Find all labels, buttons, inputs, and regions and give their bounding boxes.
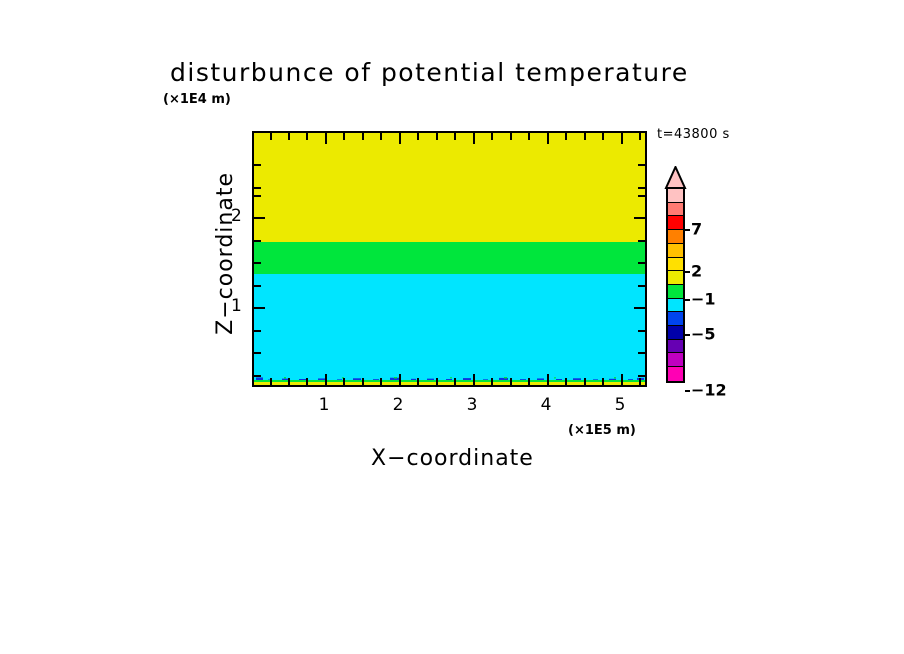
tick-x-top-minor [565, 133, 567, 140]
colorbar-band-7 [668, 285, 683, 299]
tick-x-top-minor [417, 133, 419, 140]
colorbar-tick-mark [685, 271, 690, 273]
colorbar[interactable] [666, 187, 685, 383]
tick-x-top-minor [362, 133, 364, 140]
colorbar-band-9 [668, 258, 683, 272]
x-axis-units: (×1E5 m) [568, 423, 636, 438]
tick-y-right-minor [638, 375, 645, 377]
tick-x-top-major [473, 133, 475, 144]
tick-x-top-minor [639, 133, 641, 140]
tick-y-right-major [634, 307, 645, 309]
tick-x-top-minor [306, 133, 308, 140]
tick-y-right-minor [638, 195, 645, 197]
x-axis-title: X−coordinate [371, 446, 534, 471]
tick-x-bottom-minor [565, 378, 567, 385]
tick-x-top-minor [602, 133, 604, 140]
tick-x-bottom-major [473, 374, 475, 385]
colorbar-band-12 [668, 216, 683, 230]
tick-y-right-minor [638, 240, 645, 242]
colorbar-band-11 [668, 230, 683, 244]
tick-x-bottom-minor [343, 378, 345, 385]
tick-x-top-minor [491, 133, 493, 140]
tick-x-bottom-major [325, 374, 327, 385]
tick-y-left-major [254, 217, 265, 219]
tick-x-top-minor [270, 133, 272, 140]
xtick-label-1: 1 [319, 395, 330, 415]
tick-y-left-minor [254, 195, 261, 197]
layer-cyan-lower [254, 274, 645, 375]
colorbar-band-1 [668, 367, 683, 381]
xtick-label-5: 5 [615, 395, 626, 415]
tick-x-top-major [621, 133, 623, 144]
tick-y-left-minor [254, 240, 261, 242]
colorbar-tick-mark [685, 299, 690, 301]
colorbar-label-neg12: −12 [691, 381, 727, 400]
tick-x-bottom-minor [270, 378, 272, 385]
colorbar-band-3 [668, 340, 683, 354]
tick-x-bottom-minor [380, 378, 382, 385]
colorbar-band-5 [668, 312, 683, 326]
tick-x-bottom-minor [584, 378, 586, 385]
colorbar-band-4 [668, 326, 683, 340]
tick-y-left-minor [254, 375, 261, 377]
colorbar-band-6 [668, 299, 683, 313]
tick-y-left-major [254, 307, 265, 309]
colorbar-tick-mark [685, 334, 690, 336]
colorbar-label-neg5: −5 [691, 325, 716, 344]
y-axis-title: Z−coordinate [213, 172, 238, 335]
tick-x-top-major [547, 133, 549, 144]
tick-x-top-minor [288, 133, 290, 140]
tick-x-bottom-minor [528, 378, 530, 385]
tick-x-top-minor [510, 133, 512, 140]
tick-x-top-minor [584, 133, 586, 140]
colorbar-label-neg1: −1 [691, 290, 716, 309]
colorbar-extend-arrow [664, 166, 687, 189]
tick-y-right-minor [638, 285, 645, 287]
tick-y-right-major [634, 217, 645, 219]
chart-title: disturbunce of potential temperature [170, 58, 750, 87]
tick-x-bottom-major [547, 374, 549, 385]
y-axis-title-container: Z−coordinate [218, 172, 244, 342]
layer-surface-yellow [254, 382, 645, 385]
tick-y-left-minor [254, 352, 261, 354]
timestamp-label: t=43800 s [657, 127, 730, 142]
tick-x-bottom-minor [288, 378, 290, 385]
tick-x-top-minor [454, 133, 456, 140]
colorbar-label-2: 2 [691, 262, 702, 281]
tick-y-left-minor [254, 187, 261, 189]
tick-y-right-minor [638, 164, 645, 166]
tick-y-right-minor [638, 262, 645, 264]
tick-y-left-minor [254, 285, 261, 287]
tick-x-bottom-minor [602, 378, 604, 385]
tick-x-bottom-minor [510, 378, 512, 385]
tick-x-bottom-minor [454, 378, 456, 385]
tick-x-bottom-minor [491, 378, 493, 385]
colorbar-band-10 [668, 244, 683, 258]
tick-x-bottom-minor [362, 378, 364, 385]
chart-title-units: (×1E4 m) [163, 92, 231, 107]
colorbar-band-14 [668, 189, 683, 203]
colorbar-tick-mark [685, 229, 690, 231]
tick-x-top-minor [380, 133, 382, 140]
tick-x-top-minor [343, 133, 345, 140]
colorbar-band-13 [668, 203, 683, 217]
tick-y-right-minor [638, 352, 645, 354]
tick-x-top-major [325, 133, 327, 144]
tick-y-right-minor [638, 187, 645, 189]
colorbar-label-7: 7 [691, 220, 702, 239]
layer-upper-yellow [254, 133, 645, 242]
tick-x-top-major [399, 133, 401, 144]
colorbar-tick-mark [685, 390, 690, 392]
colorbar-band-8 [668, 271, 683, 285]
tick-y-left-minor [254, 262, 261, 264]
tick-x-bottom-minor [639, 378, 641, 385]
tick-y-right-minor [638, 330, 645, 332]
tick-x-bottom-minor [417, 378, 419, 385]
tick-x-bottom-minor [306, 378, 308, 385]
tick-y-left-minor [254, 330, 261, 332]
xtick-label-4: 4 [541, 395, 552, 415]
tick-y-left-minor [254, 164, 261, 166]
layer-green-transition [254, 242, 645, 274]
tick-x-top-minor [528, 133, 530, 140]
layer-noisy-boundary [254, 371, 645, 380]
colorbar-band-2 [668, 353, 683, 367]
plot-area [252, 131, 647, 387]
tick-x-top-minor [436, 133, 438, 140]
tick-x-bottom-major [399, 374, 401, 385]
tick-x-bottom-minor [436, 378, 438, 385]
xtick-label-3: 3 [467, 395, 478, 415]
tick-x-bottom-major [621, 374, 623, 385]
xtick-label-2: 2 [393, 395, 404, 415]
